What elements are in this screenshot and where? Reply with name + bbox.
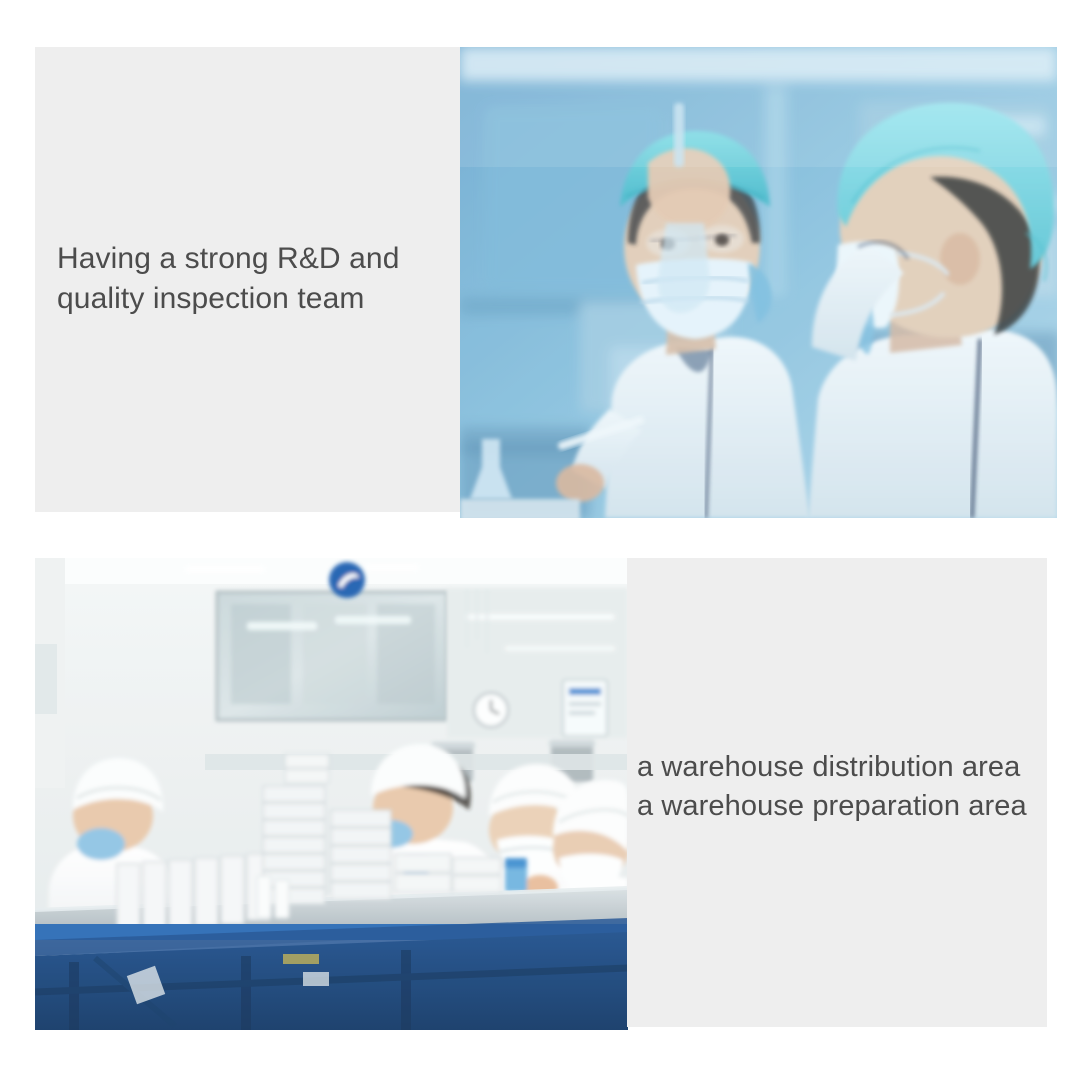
warehouse-scene-art xyxy=(35,558,628,1030)
caption-panel-rnd: Having a strong R&D and quality inspecti… xyxy=(35,47,465,512)
page-root: Having a strong R&D and quality inspecti… xyxy=(0,0,1080,1080)
photo-warehouse-packing xyxy=(35,558,628,1030)
caption-text-warehouse: a warehouse distribution area a warehous… xyxy=(637,748,1057,827)
caption-text-rnd: Having a strong R&D and quality inspecti… xyxy=(57,239,457,319)
photo-laboratory-inspection xyxy=(460,47,1057,518)
section-warehouse-areas: a warehouse distribution area a warehous… xyxy=(35,558,1047,1030)
laboratory-scene-art xyxy=(460,47,1057,518)
section-rnd-quality: Having a strong R&D and quality inspecti… xyxy=(35,47,1057,518)
caption-panel-warehouse: a warehouse distribution area a warehous… xyxy=(627,558,1047,1027)
